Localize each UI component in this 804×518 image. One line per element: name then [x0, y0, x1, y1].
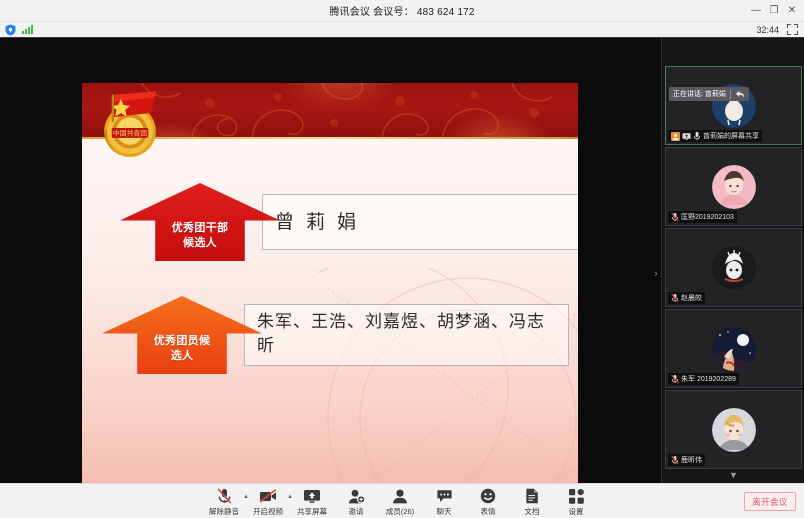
participant-tile-screenshare[interactable]: 正在讲话: 曾莉娟: [665, 66, 802, 145]
shield-icon[interactable]: [5, 24, 16, 36]
participant-tile-2[interactable]: 赵晨皎: [665, 228, 802, 307]
participant-name: 赵晨皎: [681, 293, 702, 303]
toolbar-label: 文档: [525, 506, 540, 517]
avatar-blond-boy: [712, 408, 756, 452]
members-icon: [392, 488, 408, 505]
divider: [730, 90, 731, 99]
participant-label: 鹿昕伟: [668, 454, 705, 466]
avatar-night-moon: [712, 327, 756, 371]
meeting-app-window: 腾讯会议 会议号： 483 624 172 — ❐ ✕ 32:44: [0, 0, 804, 518]
invite-user-icon: [348, 488, 365, 505]
toolbar-invite-button[interactable]: 邀请: [334, 486, 378, 517]
toolbar-label: 表情: [481, 506, 496, 517]
presentation-slide: 中国共青团 优秀团干部候选人 曾 莉 娟 优秀团员候选人: [82, 83, 578, 498]
avatar: [712, 408, 756, 452]
participant-name: 鹿昕伟: [681, 455, 702, 465]
svg-text:中国共青团: 中国共青团: [113, 129, 147, 138]
close-button[interactable]: ✕: [784, 2, 800, 20]
avatar-sketch-face: [712, 246, 756, 290]
mic-on-icon: [693, 131, 701, 141]
speaking-label: 正在讲话: 曾莉娟: [673, 89, 726, 99]
camera-off-icon: [259, 488, 277, 505]
window-controls: — ❐ ✕: [748, 0, 800, 22]
participant-tiles: 正在讲话: 曾莉娟: [665, 66, 802, 471]
meeting-timer: 32:44: [756, 25, 779, 35]
window-title: 腾讯会议 会议号： 483 624 172: [329, 3, 474, 18]
name-box-member: 朱军、王浩、刘嘉煜、胡梦涵、冯志昕: [244, 304, 569, 366]
maximize-button[interactable]: ❐: [766, 2, 782, 20]
toolbar-unmute-button[interactable]: 解除静音 ▲: [202, 486, 246, 517]
avatar: [712, 165, 756, 209]
settings-grid-icon: [569, 488, 584, 505]
minimize-button[interactable]: —: [748, 2, 764, 20]
collapse-panel-chevron-icon[interactable]: ›: [651, 256, 661, 290]
toolbar-settings-button[interactable]: 设置: [554, 486, 598, 517]
title-bar: 腾讯会议 会议号： 483 624 172 — ❐ ✕: [0, 0, 804, 22]
participant-label: 匡野2019202103: [668, 211, 737, 223]
name-box-cadre: 曾 莉 娟: [262, 194, 578, 250]
communist-youth-league-emblem: 中国共青团: [92, 87, 168, 163]
status-bar-right: 32:44: [756, 24, 804, 35]
leave-meeting-button[interactable]: 离开会议: [744, 492, 796, 511]
status-bar-left: [0, 24, 33, 36]
participant-tile-3[interactable]: 朱军 2019202289: [665, 309, 802, 388]
participant-tile-4[interactable]: 鹿昕伟: [665, 390, 802, 469]
document-icon: [525, 488, 539, 505]
emoji-smile-icon: [480, 488, 496, 505]
reply-arrow-icon[interactable]: [735, 90, 745, 99]
speaking-indicator: 正在讲话: 曾莉娟: [669, 87, 749, 101]
avatar-pink-portrait: [712, 165, 756, 209]
mic-off-icon: [671, 212, 679, 222]
toolbar-label: 聊天: [437, 506, 452, 517]
toolbar-emoji-button[interactable]: 表情: [466, 486, 510, 517]
participant-name: 匡野2019202103: [681, 212, 734, 222]
toolbar-share-screen-button[interactable]: 共享屏幕: [290, 486, 334, 517]
arrow-label-cadre: 优秀团干部候选人: [172, 221, 229, 261]
mic-muted-icon: [217, 488, 232, 505]
screen-share-icon: [303, 488, 321, 505]
toolbar-items: 解除静音 ▲ 开启视频 ▲: [202, 486, 598, 517]
arrow-label-member: 优秀团员候选人: [154, 334, 211, 374]
host-icon: [671, 132, 680, 141]
participant-tile-1[interactable]: 匡野2019202103: [665, 147, 802, 226]
mic-off-icon: [671, 455, 679, 465]
candidate-row-cadre: 优秀团干部候选人 曾 莉 娟: [120, 183, 578, 261]
status-bar: 32:44: [0, 22, 804, 38]
rail-scroll-down-icon[interactable]: ▼: [662, 467, 804, 483]
arrow-callout-member: 优秀团员候选人: [102, 296, 262, 374]
toolbar-label: 共享屏幕: [297, 506, 327, 517]
participant-name: 朱军 2019202289: [681, 374, 736, 384]
mic-off-icon: [671, 374, 679, 384]
candidate-row-member: 优秀团员候选人 朱军、王浩、刘嘉煜、胡梦涵、冯志昕: [102, 296, 569, 374]
meeting-toolbar: 解除静音 ▲ 开启视频 ▲: [0, 483, 804, 518]
participant-rail: ▲ 正在讲话: 曾莉娟: [661, 38, 804, 483]
toolbar-label: 邀请: [349, 506, 364, 517]
screen-share-icon: [682, 132, 691, 141]
participant-label: 朱军 2019202289: [668, 373, 739, 385]
toolbar-members-button[interactable]: 成员(26): [378, 486, 422, 517]
arrow-callout-cadre: 优秀团干部候选人: [120, 183, 280, 261]
participant-name: 曾莉娟的屏幕共享: [703, 131, 759, 141]
avatar: [712, 327, 756, 371]
toolbar-start-video-button[interactable]: 开启视频 ▲: [246, 486, 290, 517]
fullscreen-expand-icon[interactable]: [787, 24, 798, 35]
participant-label: 赵晨皎: [668, 292, 705, 304]
participant-label: 曾莉娟的屏幕共享: [668, 130, 762, 142]
avatar: [712, 246, 756, 290]
toolbar-label: 成员(26): [386, 506, 414, 517]
signal-strength-icon[interactable]: [22, 25, 33, 34]
toolbar-chat-button[interactable]: 聊天: [422, 486, 466, 517]
shared-screen-stage: 中国共青团 优秀团干部候选人 曾 莉 娟 优秀团员候选人: [0, 38, 661, 483]
toolbar-document-button[interactable]: 文档: [510, 486, 554, 517]
mic-off-icon: [671, 293, 679, 303]
toolbar-label: 设置: [569, 506, 584, 517]
chat-bubble-icon: [436, 488, 453, 505]
toolbar-label: 解除静音: [209, 506, 239, 517]
toolbar-label: 开启视频: [253, 506, 283, 517]
